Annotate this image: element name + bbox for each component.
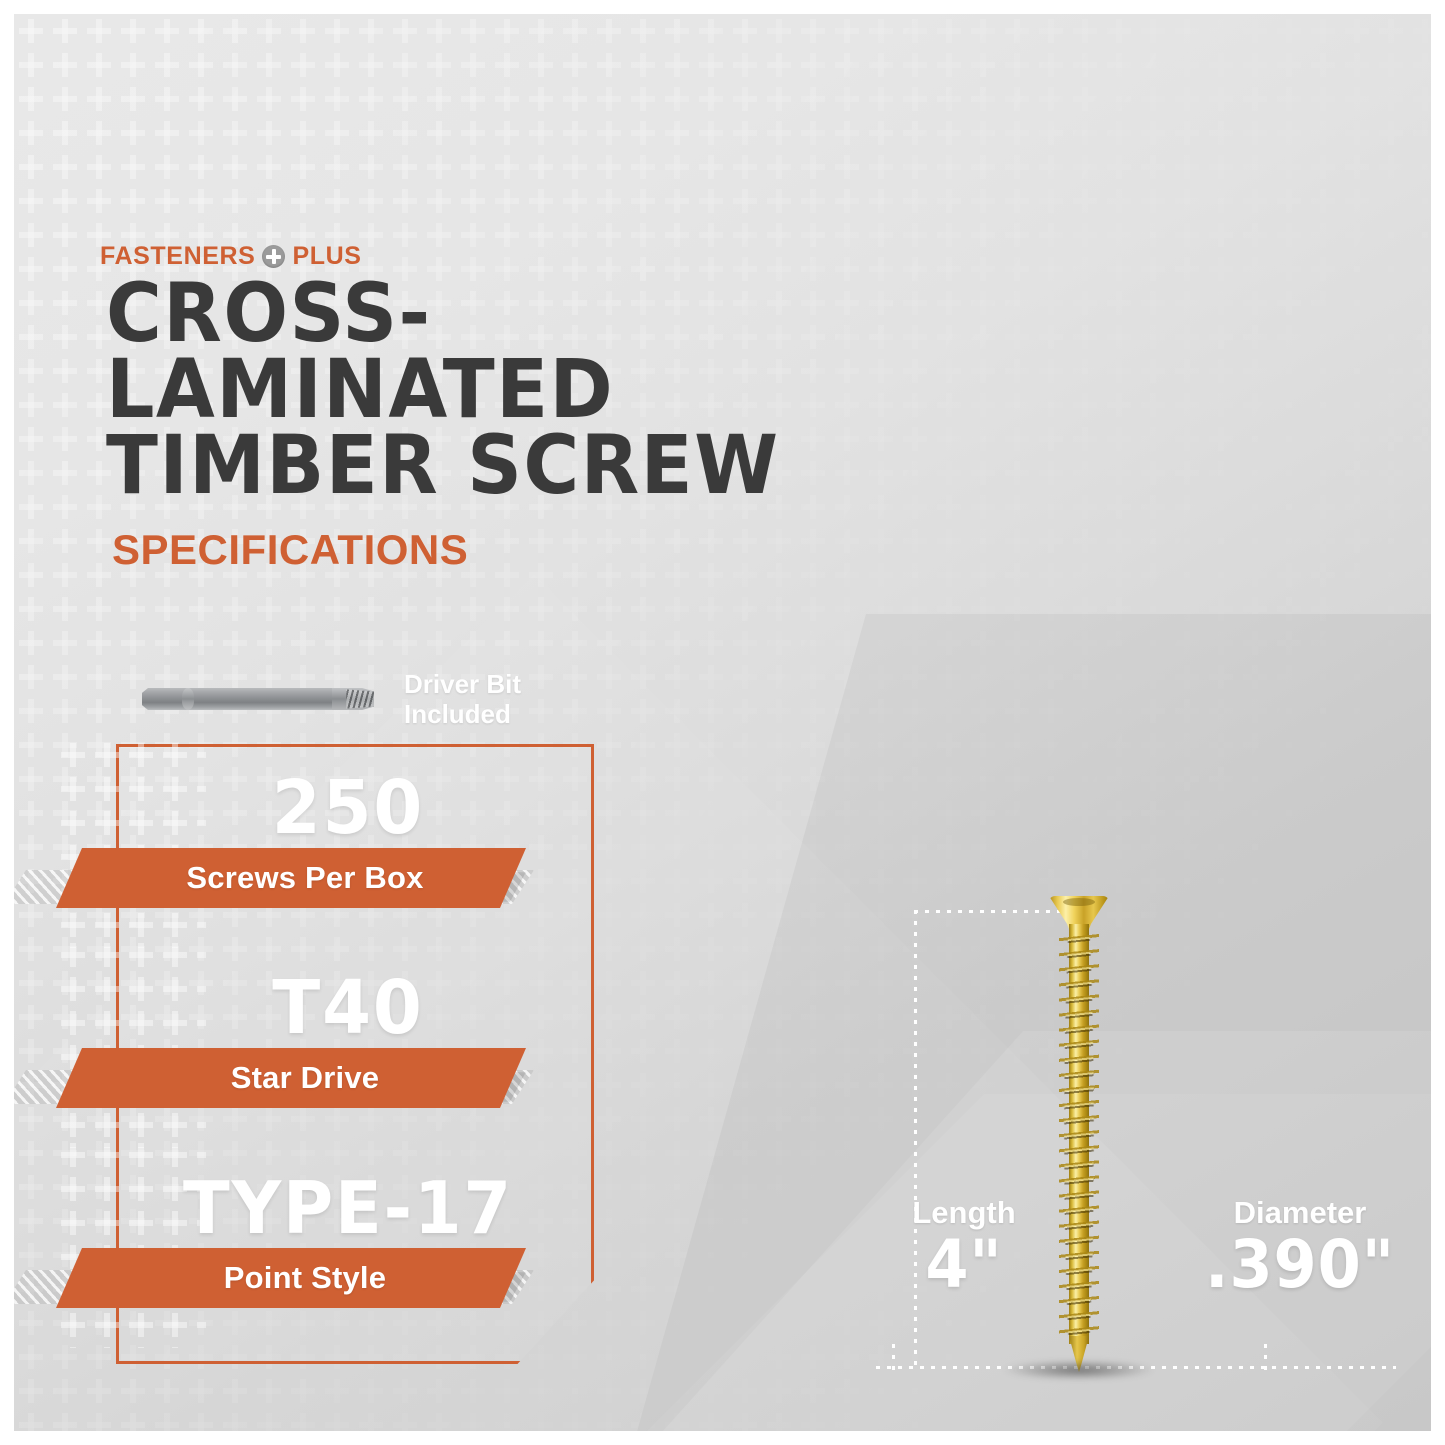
bit-star-tip [332, 688, 374, 710]
guide-cap-right [1264, 1344, 1267, 1370]
dimension-value: .390" [1159, 1230, 1431, 1299]
spec-card-star-drive: T40 Star Drive [14, 944, 594, 1144]
spec-list: 250 Screws Per Box T40 Star Drive [14, 744, 594, 1364]
screw-head-plus-icon [262, 245, 285, 268]
spec-label: Screws Per Box [158, 860, 423, 896]
spec-card-screws-per-box: 250 Screws Per Box [14, 744, 594, 944]
spec-banner: Point Style [56, 1248, 526, 1308]
dimension-value: 4" [856, 1230, 1072, 1299]
page-subtitle: SPECIFICATIONS [112, 526, 468, 574]
guide-cap-left [892, 1344, 895, 1370]
screw-ground-shadow [1004, 1360, 1154, 1380]
dimension-diameter: Diameter .390" [1150, 1196, 1431, 1299]
infographic-canvas: FASTENERS PLUS CROSS- LAMINATED TIMBER S… [0, 0, 1445, 1445]
dimension-length: Length 4" [849, 1196, 1079, 1299]
page-title: CROSS- LAMINATED TIMBER SCREW [106, 276, 952, 504]
spec-label: Star Drive [203, 1060, 379, 1096]
dimension-label: Diameter [1150, 1196, 1431, 1230]
spec-banner: Screws Per Box [56, 848, 526, 908]
product-dimension-diagram: Length 4" Diameter .390" [854, 874, 1414, 1394]
art-board: FASTENERS PLUS CROSS- LAMINATED TIMBER S… [14, 14, 1431, 1431]
driver-bit-label: Driver Bit Included [404, 670, 521, 730]
spec-banner: Star Drive [56, 1048, 526, 1108]
torx-driver-bit-icon [142, 676, 372, 720]
spec-card-point-style: TYPE-17 Point Style [14, 1144, 594, 1364]
bit-notch [182, 688, 194, 710]
length-guide-top-tick [914, 910, 1070, 913]
spec-label: Point Style [196, 1260, 386, 1296]
bit-shank [142, 688, 338, 710]
dimension-label: Length [849, 1196, 1079, 1230]
